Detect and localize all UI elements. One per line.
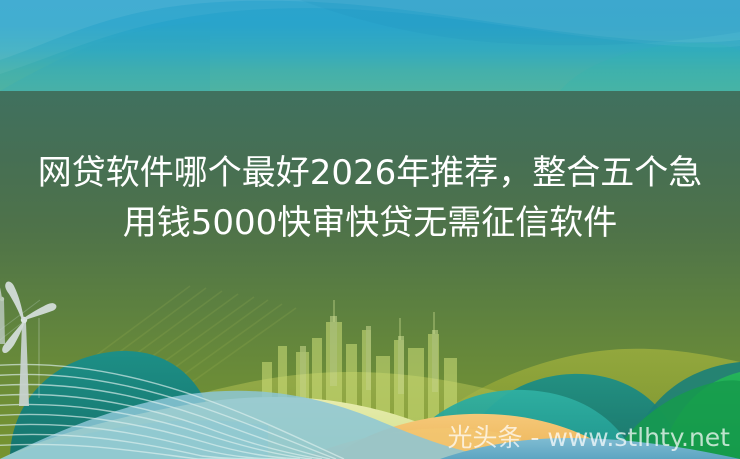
poster-canvas: 网贷软件哪个最好2026年推荐，整合五个急用钱5000快审快贷无需征信软件 光头… [0,0,740,459]
watermark-text: 光头条 - www.stlhty.net [447,423,730,453]
page-title: 网贷软件哪个最好2026年推荐，整合五个急用钱5000快审快贷无需征信软件 [0,148,740,248]
skyline-antennae [334,300,434,340]
sky-waves [0,0,740,91]
wind-turbine-secondary-icon [0,281,5,344]
